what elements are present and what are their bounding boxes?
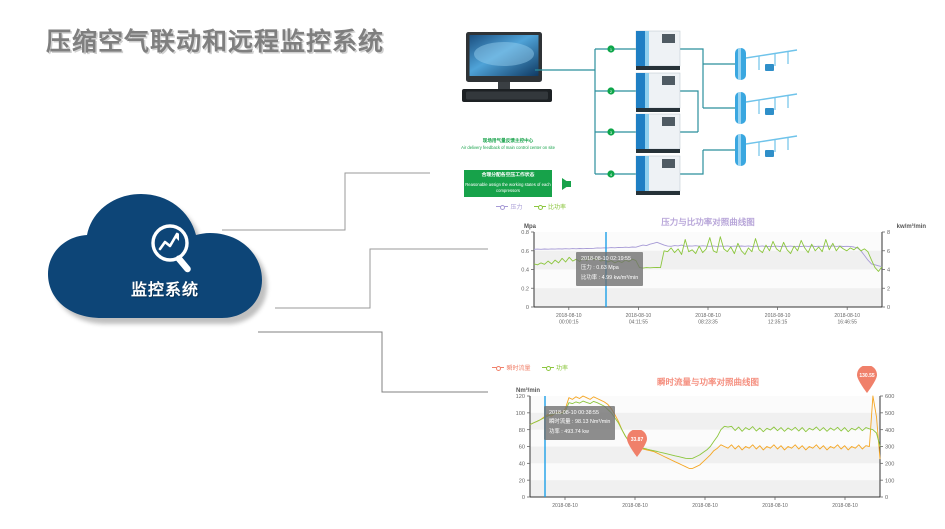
marker-min-pin[interactable]: 33.87: [627, 430, 647, 457]
svg-text:2018-08-10: 2018-08-10: [762, 503, 788, 509]
tooltip-timestamp: 2018-08-10 02:19:55: [581, 255, 638, 264]
svg-text:16:46:55: 16:46:55: [837, 320, 857, 326]
svg-text:2018-08-10: 2018-08-10: [832, 503, 858, 509]
svg-text:40: 40: [519, 462, 525, 468]
pin-icon: [627, 430, 647, 457]
svg-text:2: 2: [887, 286, 890, 292]
svg-text:60: 60: [519, 445, 525, 451]
marker-max-pin[interactable]: 130.55: [857, 366, 877, 393]
chart-flow-vs-power[interactable]: 瞬时流量 功率 瞬时流量与功率对照曲线图 Nm³/min 12010080604…: [488, 362, 928, 529]
pipe-network: 1 2 3 4: [440, 18, 940, 210]
chart1-tooltip: 2018-08-10 02:19:55 压力 : 0.63 Mpa 比功率 : …: [576, 252, 643, 286]
system-schematic: 现场用气量反馈主控中心 Air delivery feedback of mai…: [440, 18, 940, 210]
svg-text:100: 100: [516, 411, 525, 417]
pin-icon: [857, 366, 877, 393]
svg-text:0.6: 0.6: [521, 249, 529, 255]
svg-text:2018-08-10: 2018-08-10: [552, 503, 578, 509]
svg-text:0.2: 0.2: [521, 286, 529, 292]
chart-magnifier-icon: [146, 220, 202, 278]
svg-text:04:11:55: 04:11:55: [629, 320, 648, 326]
svg-text:400: 400: [885, 428, 894, 434]
svg-text:08:23:35: 08:23:35: [698, 320, 718, 326]
svg-text:0.8: 0.8: [521, 230, 529, 236]
svg-text:8: 8: [887, 230, 890, 236]
chart1-plot: 0.80.60.40.20864202018-08-1000:00:152018…: [488, 200, 928, 335]
marker-max-label: 130.55: [857, 373, 877, 379]
svg-text:500: 500: [885, 411, 894, 417]
svg-text:2018-08-10: 2018-08-10: [626, 313, 652, 319]
svg-text:0.4: 0.4: [521, 268, 529, 274]
svg-text:6: 6: [887, 249, 890, 255]
svg-text:0: 0: [522, 495, 525, 501]
svg-text:2018-08-10: 2018-08-10: [622, 503, 648, 509]
svg-text:00:00:15: 00:00:15: [559, 320, 579, 326]
tooltip-line1: 压力 : 0.63 Mpa: [581, 264, 638, 273]
svg-text:0: 0: [885, 495, 888, 501]
tooltip-timestamp: 2018-08-10 00:38:55: [549, 409, 610, 418]
monitoring-cloud[interactable]: 监控系统: [40, 190, 290, 325]
svg-text:200: 200: [885, 462, 894, 468]
slide-canvas: 压缩空气联动和远程监控系统 监控系统: [0, 0, 945, 529]
marker-min-label: 33.87: [627, 437, 647, 443]
tooltip-line2: 比功率 : 4.99 kw/m³/min: [581, 274, 638, 283]
svg-text:2018-08-10: 2018-08-10: [692, 503, 718, 509]
svg-text:4: 4: [887, 268, 890, 274]
svg-text:0: 0: [526, 305, 529, 311]
chart2-tooltip: 2018-08-10 00:38:55 瞬时流量 : 98.13 Nm³/min…: [544, 406, 615, 440]
svg-text:2018-08-10: 2018-08-10: [765, 313, 791, 319]
svg-text:100: 100: [885, 478, 894, 484]
svg-text:0: 0: [887, 305, 890, 311]
svg-text:2018-08-10: 2018-08-10: [834, 313, 860, 319]
svg-text:20: 20: [519, 478, 525, 484]
tooltip-line1: 瞬时流量 : 98.13 Nm³/min: [549, 418, 610, 427]
svg-text:120: 120: [516, 394, 525, 400]
svg-text:2018-08-10: 2018-08-10: [556, 313, 582, 319]
svg-text:600: 600: [885, 394, 894, 400]
tooltip-line2: 功率 : 493.74 kw: [549, 428, 610, 437]
svg-text:80: 80: [519, 428, 525, 434]
svg-text:2018-08-10: 2018-08-10: [695, 313, 721, 319]
svg-text:300: 300: [885, 445, 894, 451]
cloud-label: 监控系统: [40, 276, 290, 300]
chart-pressure-vs-specific-power[interactable]: 压力 比功率 压力与比功率对照曲线图 Mpa kw/m³/min 0.80.60…: [488, 200, 928, 335]
svg-text:12:35:15: 12:35:15: [768, 320, 788, 326]
